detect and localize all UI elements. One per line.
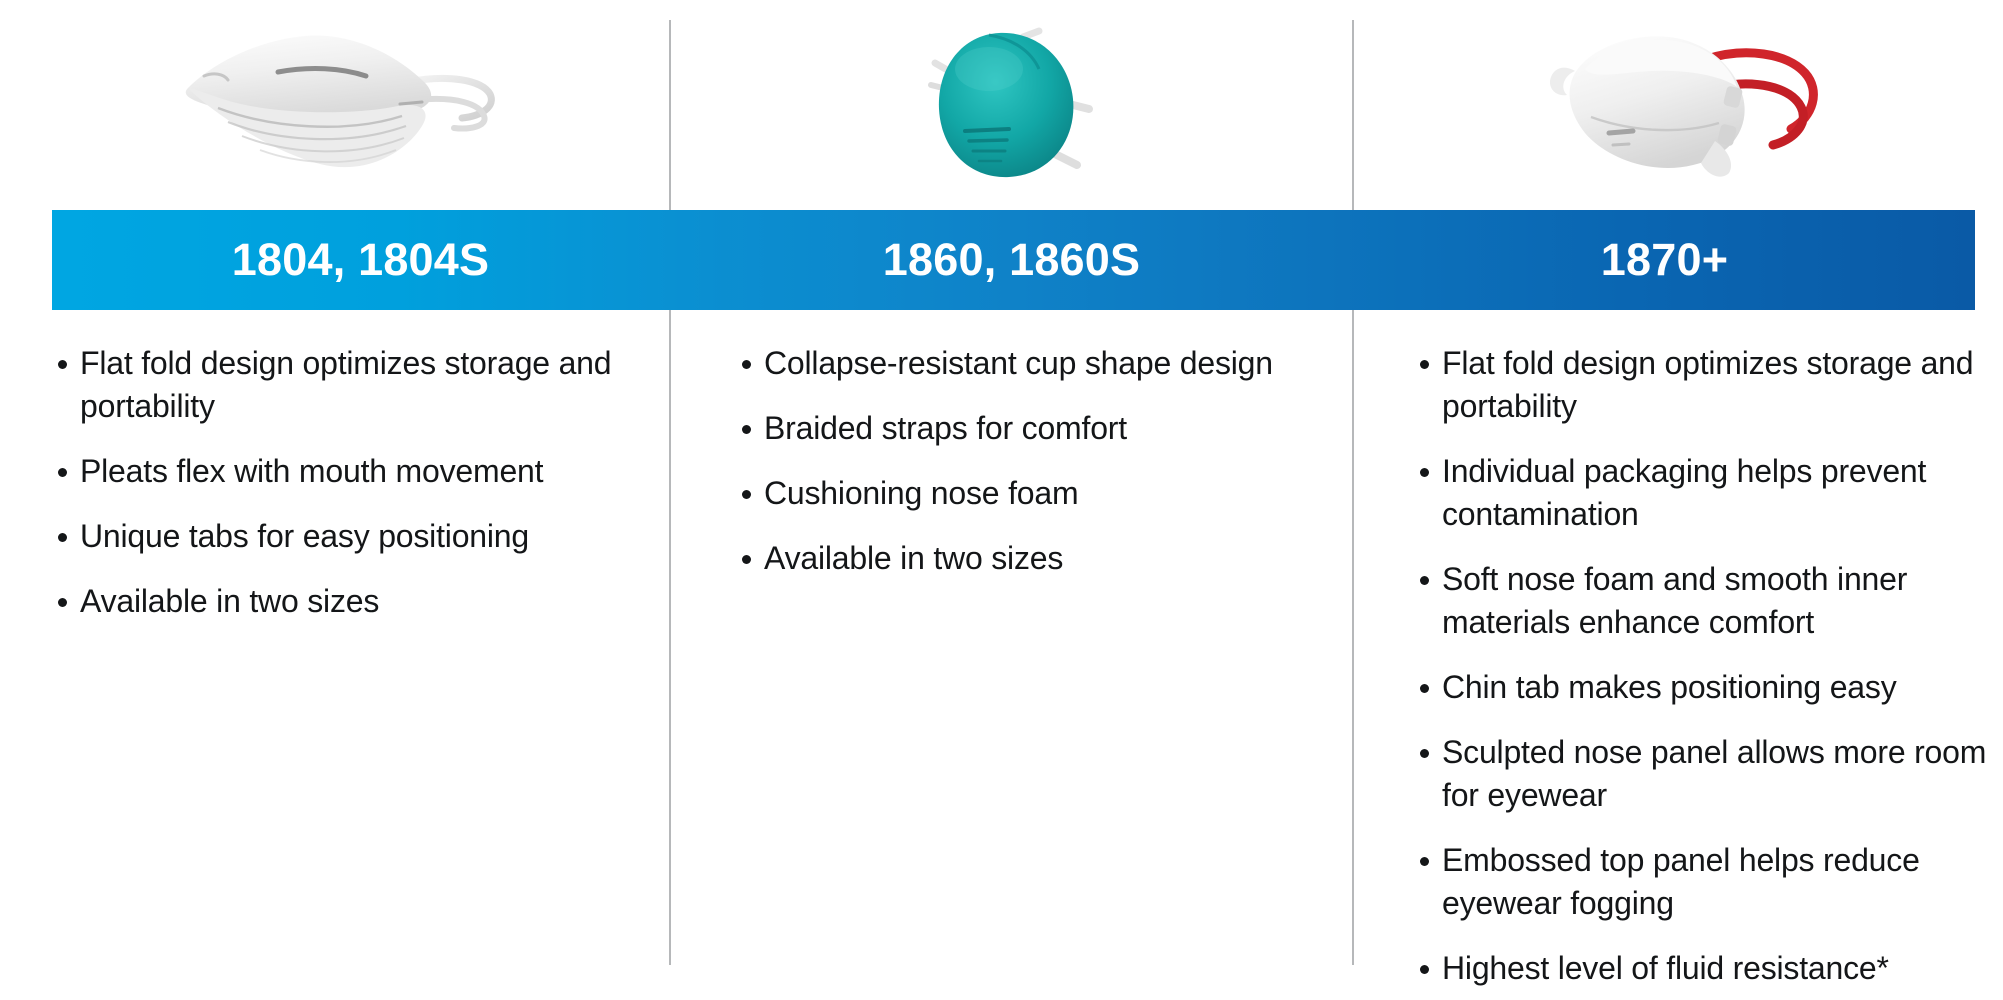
list-item: Unique tabs for easy positioning <box>52 515 652 558</box>
list-item: Cushioning nose foam <box>736 472 1336 515</box>
product-image-cell-1804 <box>0 0 669 210</box>
flat-fold-respirator-white-image <box>170 30 500 180</box>
feature-list-1870plus: Flat fold design optimizes storage and p… <box>1414 310 1994 1000</box>
flat-fold-respirator-red-strap-image <box>1529 25 1829 185</box>
list-item: Soft nose foam and smooth inner material… <box>1414 558 1994 644</box>
list-item: Flat fold design optimizes storage and p… <box>52 342 652 428</box>
list-item: Highest level of fluid resistance* <box>1414 947 1994 990</box>
feature-lists-row: Flat fold design optimizes storage and p… <box>0 310 2003 1000</box>
list-item: Individual packaging helps prevent conta… <box>1414 450 1994 536</box>
list-item: Braided straps for comfort <box>736 407 1336 450</box>
list-item: Available in two sizes <box>52 580 652 623</box>
feature-list-1804: Flat fold design optimizes storage and p… <box>52 310 652 1000</box>
list-item: Chin tab makes positioning easy <box>1414 666 1994 709</box>
respirator-comparison-board: 1804, 1804S 1860, 1860S 1870+ Flat fold … <box>0 0 2003 1000</box>
cup-shape-respirator-teal-image <box>927 25 1097 185</box>
list-item: Embossed top panel helps reduce eyewear … <box>1414 839 1994 925</box>
list-item: Flat fold design optimizes storage and p… <box>1414 342 1994 428</box>
list-item: Collapse-resistant cup shape design <box>736 342 1336 385</box>
product-image-row <box>0 0 2003 210</box>
product-image-cell-1860 <box>671 0 1352 210</box>
product-header-bar: 1804, 1804S 1860, 1860S 1870+ <box>52 210 1975 310</box>
product-header-1804: 1804, 1804S <box>52 210 669 310</box>
product-image-cell-1870plus <box>1354 0 2003 210</box>
product-header-1860: 1860, 1860S <box>671 210 1352 310</box>
feature-list-1860: Collapse-resistant cup shape design Brai… <box>736 310 1336 1000</box>
product-header-1870plus: 1870+ <box>1354 210 1975 310</box>
list-item: Sculpted nose panel allows more room for… <box>1414 731 1994 817</box>
list-item: Available in two sizes <box>736 537 1336 580</box>
list-item: Pleats flex with mouth movement <box>52 450 652 493</box>
